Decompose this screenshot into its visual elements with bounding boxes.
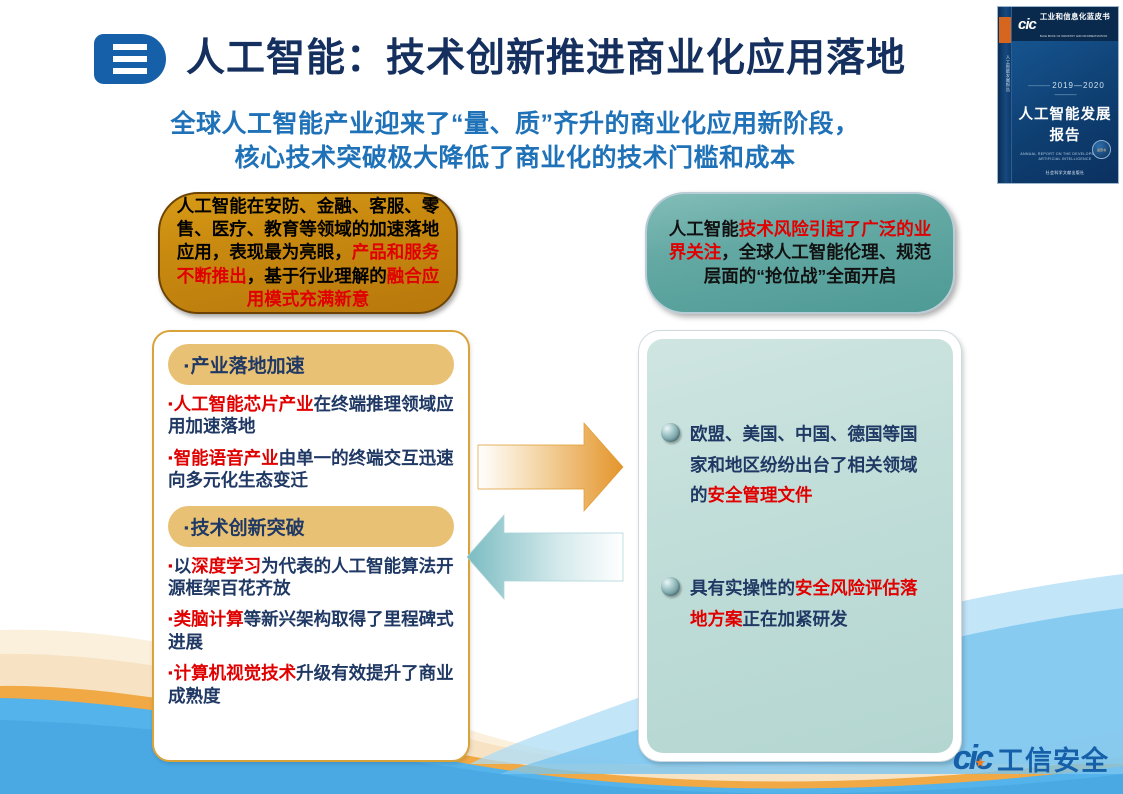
page-subtitle: 全球人工智能产业迎来了“量、质”齐升的商业化应用新阶段， 核心技术突破极大降低了… bbox=[120, 108, 910, 176]
left-arrow-icon bbox=[467, 515, 623, 599]
bullet-square-icon: ▪ bbox=[168, 611, 173, 626]
callout-right-seg1: 人工智能 bbox=[669, 219, 739, 239]
book-title: 人工智能发展报告 bbox=[1012, 103, 1118, 145]
panel-right: 欧盟、美国、中国、德国等国家和地区纷纷出台了相关领域的安全管理文件 具有实操性的… bbox=[638, 330, 962, 762]
book-brand-cn: 工业和信息化蓝皮书 bbox=[1040, 12, 1110, 21]
list-item: 具有实操性的安全风险评估落地方案正在加紧研发 bbox=[661, 573, 933, 634]
panel-left: ▪产业落地加速 ▪人工智能芯片产业在终端推理领域应用加速落地 ▪智能语音产业由单… bbox=[152, 330, 470, 762]
book-cover-image: 人工智能发展报告 cic 工业和信息化蓝皮书 BLUE BOOK OF INDU… bbox=[997, 6, 1119, 184]
bullet-square-icon: ▪ bbox=[168, 396, 173, 411]
arrow-group bbox=[465, 405, 655, 610]
star-icon: ★ bbox=[974, 755, 986, 771]
slide-header: 人工智能：技术创新推进商业化应用落地 bbox=[0, 28, 1000, 90]
footer-logo: cic ★ 工信安全 bbox=[953, 739, 1109, 778]
callout-right-seg3: ，全球人工智能伦理、规范层面的“抢位战”全面开启 bbox=[704, 242, 932, 285]
slide-canvas: 人工智能：技术创新推进商业化应用落地 全球人工智能产业迎来了“量、质”齐升的商业… bbox=[0, 0, 1123, 794]
panel-right-inner: 欧盟、美国、中国、德国等国家和地区纷纷出台了相关领域的安全管理文件 具有实操性的… bbox=[647, 339, 953, 753]
book-years: 2019—2020 bbox=[1012, 81, 1118, 99]
book-seal-badge: 蓝皮书 bbox=[1092, 140, 1111, 159]
hamburger-icon bbox=[94, 34, 166, 84]
book-spine-title: 人工智能发展报告 bbox=[1001, 55, 1010, 92]
list-item: ▪类脑计算等新兴架构取得了里程碑式进展 bbox=[168, 608, 454, 653]
callout-left: 人工智能在安防、金融、客服、零售、医疗、教育等领域的加速落地应用，表现最为亮眼，… bbox=[158, 192, 458, 314]
book-front-body: 2019—2020 人工智能发展报告 ANNUAL REPORT ON THE … bbox=[1012, 41, 1118, 183]
list-item-text: 正在加紧研发 bbox=[743, 609, 848, 629]
section-header-industry-label: 产业落地加速 bbox=[191, 356, 305, 377]
bullet-square-icon: ▪ bbox=[168, 558, 173, 573]
cic-logo-mark: cic ★ bbox=[953, 739, 991, 778]
list-item-highlight: 深度学习 bbox=[191, 556, 261, 576]
book-cic-logo: cic bbox=[1018, 16, 1036, 33]
book-spine-mark bbox=[999, 17, 1011, 43]
section-header-tech-label: 技术创新突破 bbox=[191, 518, 305, 539]
subtitle-line-2: 核心技术突破极大降低了商业化的技术门槛和成本 bbox=[120, 142, 910, 176]
subtitle-line-1: 全球人工智能产业迎来了“量、质”齐升的商业化应用新阶段， bbox=[120, 108, 910, 142]
footer-logo-name: 工信安全 bbox=[997, 739, 1109, 778]
list-item: 欧盟、美国、中国、德国等国家和地区纷纷出台了相关领域的安全管理文件 bbox=[661, 419, 933, 511]
list-item-prefix: 具有实操性的 bbox=[690, 578, 795, 598]
list-item: ▪智能语音产业由单一的终端交互迅速向多元化生态变迁 bbox=[168, 447, 454, 492]
book-brand-en: BLUE BOOK OF INDUSTRY AND INFORMATIZATIO… bbox=[1040, 35, 1107, 38]
section-header-industry: ▪产业落地加速 bbox=[168, 344, 454, 385]
list-item-highlight: 安全管理文件 bbox=[708, 485, 813, 505]
bullet-square-icon: ▪ bbox=[168, 450, 173, 465]
bullet-square-icon: ▪ bbox=[184, 358, 189, 373]
bullet-square-icon: ▪ bbox=[184, 520, 189, 535]
callout-right: 人工智能技术风险引起了广泛的业界关注，全球人工智能伦理、规范层面的“抢位战”全面… bbox=[645, 192, 955, 314]
book-publisher: 社会科学文献出版社 bbox=[1012, 170, 1118, 176]
book-brand-band: cic 工业和信息化蓝皮书 BLUE BOOK OF INDUSTRY AND … bbox=[1012, 7, 1118, 41]
list-item-highlight: 人工智能芯片产业 bbox=[174, 394, 314, 414]
page-title: 人工智能：技术创新推进商业化应用落地 bbox=[186, 38, 906, 81]
callout-left-seg3: ，基于行业理解的 bbox=[247, 266, 387, 286]
list-item-highlight: 计算机视觉技术 bbox=[174, 663, 297, 683]
list-item: ▪人工智能芯片产业在终端推理领域应用加速落地 bbox=[168, 393, 454, 438]
list-item-prefix: 以 bbox=[174, 556, 192, 576]
sphere-bullet-icon bbox=[661, 423, 680, 442]
list-item: ▪计算机视觉技术升级有效提升了商业成熟度 bbox=[168, 662, 454, 707]
list-item-highlight: 智能语音产业 bbox=[174, 448, 279, 468]
book-spine: 人工智能发展报告 bbox=[998, 7, 1012, 183]
right-arrow-icon bbox=[478, 423, 623, 511]
section-header-tech: ▪技术创新突破 bbox=[168, 506, 454, 547]
list-item-highlight: 类脑计算 bbox=[174, 609, 244, 629]
sphere-bullet-icon bbox=[661, 577, 680, 596]
bullet-square-icon: ▪ bbox=[168, 665, 173, 680]
list-item: ▪以深度学习为代表的人工智能算法开源框架百花齐放 bbox=[168, 555, 454, 600]
